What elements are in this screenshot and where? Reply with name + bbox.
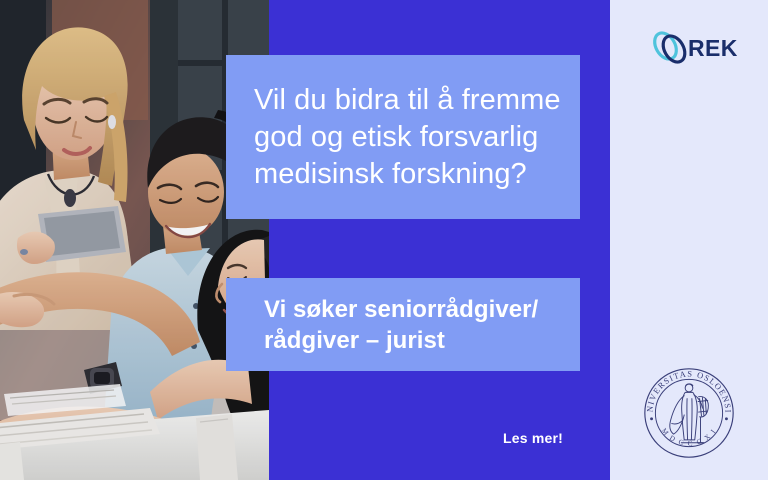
job-advert-banner: Vil du bidra til å fremme god og etisk f… — [0, 0, 768, 480]
headline-line-3: medisinsk forskning? — [254, 156, 552, 193]
role-line-2: rådgiver – jurist — [264, 325, 542, 356]
uio-seal-bottom-text: M D C C C X I — [660, 427, 719, 448]
headline-card: Vil du bidra til å fremme god og etisk f… — [226, 55, 580, 219]
role-line-1: Vi søker seniorrådgiver/ — [264, 294, 542, 325]
les-mer-link[interactable]: Les mer! — [503, 430, 563, 446]
headline-line-1: Vil du bidra til å fremme — [254, 82, 552, 119]
rek-wordmark: REK — [688, 35, 738, 62]
headline-line-2: god og etisk forsvarlig — [254, 119, 552, 156]
uio-seal: UNIVERSITAS OSLOENSIS M D C C C X I — [641, 365, 737, 461]
rek-interlocking-loops-icon — [648, 26, 692, 70]
rek-logo[interactable]: REK — [648, 26, 738, 70]
svg-text:M D C C C X I: M D C C C X I — [660, 427, 719, 448]
role-card: Vi søker seniorrådgiver/ rådgiver – juri… — [226, 278, 580, 371]
